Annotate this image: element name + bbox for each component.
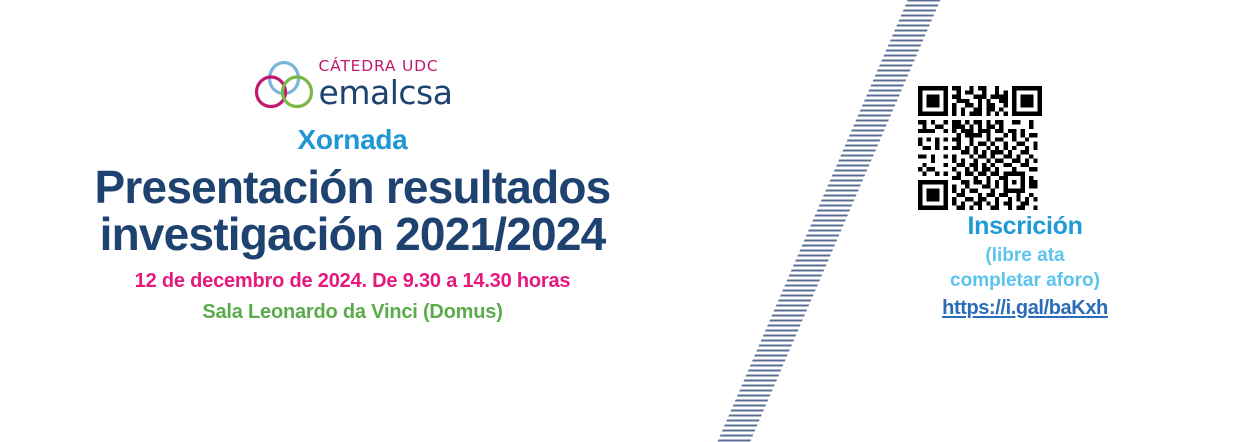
poster-canvas: CÁTEDRA UDC emalcsa Xornada Presentación…: [0, 0, 1239, 442]
registration-note-line-2: completar aforo): [880, 270, 1170, 292]
event-title-line-2: investigación 2021/2024: [0, 207, 705, 261]
registration-url-link[interactable]: https://i.gal/baKxh: [880, 297, 1170, 320]
brand-wordmark: CÁTEDRA UDC emalcsa: [319, 59, 453, 109]
qr-code-icon[interactable]: [918, 86, 1042, 210]
emalcsa-trefoil-logo-icon: [253, 58, 315, 110]
registration-column: Inscrición (libre ata completar aforo) h…: [880, 0, 1170, 442]
registration-heading: Inscrición: [880, 212, 1170, 241]
brand-emalcsa-text: emalcsa: [319, 76, 453, 109]
event-info-column: CÁTEDRA UDC emalcsa Xornada Presentación…: [0, 0, 705, 442]
event-date-time: 12 de decembro de 2024. De 9.30 a 14.30 …: [0, 270, 705, 293]
event-kicker: Xornada: [0, 124, 705, 156]
registration-note-line-1: (libre ata: [880, 245, 1170, 267]
event-title-line-1: Presentación resultados: [0, 160, 705, 214]
event-venue: Sala Leonardo da Vinci (Domus): [0, 301, 705, 324]
brand-logo: CÁTEDRA UDC emalcsa: [0, 58, 705, 110]
